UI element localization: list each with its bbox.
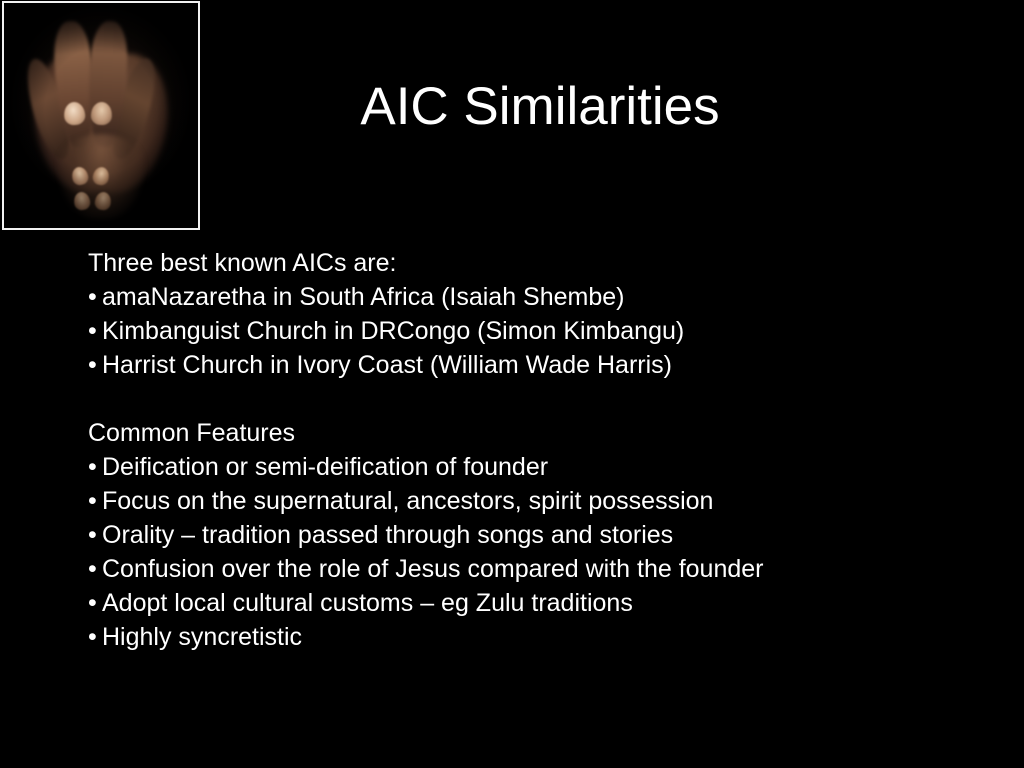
bullet-icon: •	[88, 348, 102, 382]
bullet-icon: •	[88, 552, 102, 586]
list-item: •Focus on the supernatural, ancestors, s…	[88, 484, 988, 518]
bullet-icon: •	[88, 314, 102, 348]
bullet-icon: •	[88, 620, 102, 654]
text-block-common-features: Common Features •Deification or semi-dei…	[88, 416, 988, 654]
list-item-label: Confusion over the role of Jesus compare…	[102, 555, 764, 583]
list-item: •Harrist Church in Ivory Coast (William …	[88, 348, 988, 382]
bullet-icon: •	[88, 586, 102, 620]
block-heading: Three best known AICs are:	[88, 246, 988, 280]
list-item-label: Harrist Church in Ivory Coast (William W…	[102, 351, 672, 379]
text-block-known-aics: Three best known AICs are: •amaNazaretha…	[88, 246, 988, 382]
list-item-label: Kimbanguist Church in DRCongo (Simon Kim…	[102, 317, 684, 345]
praying-hands-photo	[2, 1, 200, 230]
list-item: •Kimbanguist Church in DRCongo (Simon Ki…	[88, 314, 988, 348]
list-item: •amaNazaretha in South Africa (Isaiah Sh…	[88, 280, 988, 314]
bullet-icon: •	[88, 518, 102, 552]
block-heading: Common Features	[88, 416, 988, 450]
list-item-label: Highly syncretistic	[102, 623, 302, 651]
photo-inner	[4, 3, 198, 228]
list-item: •Confusion over the role of Jesus compar…	[88, 552, 988, 586]
slide-canvas: AIC Similarities Three best known AICs a…	[0, 0, 1024, 768]
bullet-icon: •	[88, 450, 102, 484]
bullet-icon: •	[88, 280, 102, 314]
block-spacer	[88, 382, 988, 416]
list-item: •Highly syncretistic	[88, 620, 988, 654]
slide-title: AIC Similarities	[210, 78, 870, 136]
list-item-label: Focus on the supernatural, ancestors, sp…	[102, 487, 713, 515]
list-item-label: amaNazaretha in South Africa (Isaiah She…	[102, 283, 625, 311]
list-item: •Deification or semi-deification of foun…	[88, 450, 988, 484]
list-item-label: Orality – tradition passed through songs…	[102, 521, 673, 549]
slide-body: Three best known AICs are: •amaNazaretha…	[88, 246, 988, 654]
bullet-icon: •	[88, 484, 102, 518]
list-item-label: Adopt local cultural customs – eg Zulu t…	[102, 589, 633, 617]
list-item-label: Deification or semi-deification of found…	[102, 453, 548, 481]
list-item: •Adopt local cultural customs – eg Zulu …	[88, 586, 988, 620]
list-item: •Orality – tradition passed through song…	[88, 518, 988, 552]
